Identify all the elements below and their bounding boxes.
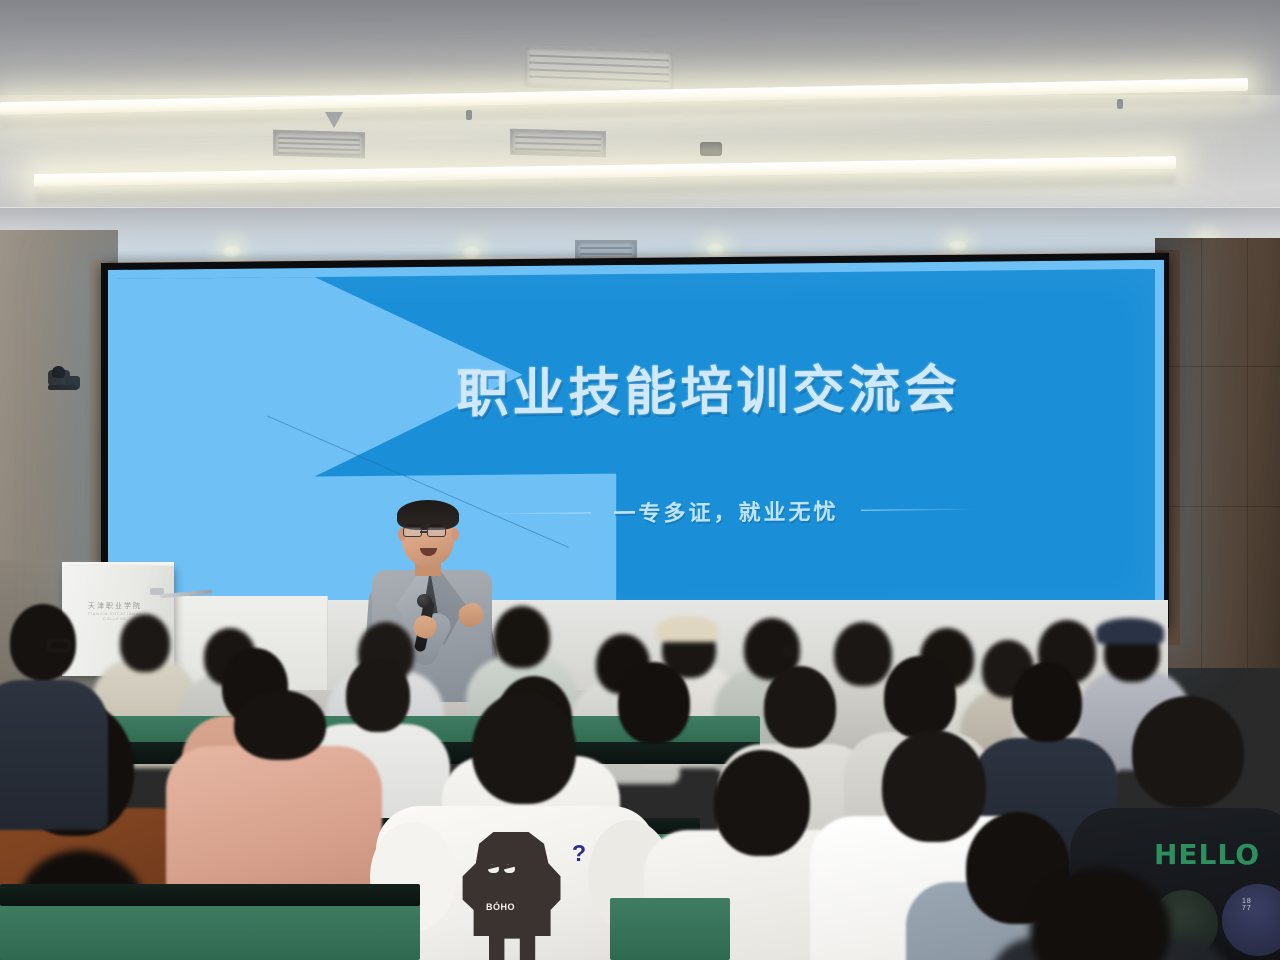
glasses-bridge (420, 531, 427, 533)
glasses-icon-audience (784, 646, 800, 654)
slide-subtitle: 一专多证，就业无忧 (613, 494, 838, 528)
desk-row-1-front (0, 884, 420, 906)
lecture-hall-photo: 职业技能培训交流会 一专多证，就业无忧 天津职业学院 TIANJIN VOCAT… (0, 0, 1280, 960)
downlight-3 (706, 243, 725, 256)
speaker-ear-right (451, 528, 459, 541)
right-wall (1155, 238, 1280, 668)
presentation-screen: 职业技能培训交流会 一专多证，就业无忧 (108, 260, 1164, 632)
ceiling-speaker-box (700, 142, 722, 156)
ceiling-vent-top (524, 45, 674, 92)
ceiling (0, 0, 1280, 268)
downlight-4 (948, 240, 967, 253)
glasses-icon-front-left (48, 640, 70, 651)
subtitle-rule-right (861, 508, 973, 510)
patch-cap-text: 18 77 (1242, 898, 1252, 912)
ceiling-cone-speaker (325, 112, 343, 128)
ptz-camera-icon (48, 366, 82, 396)
sprinkler-head-1 (466, 110, 472, 120)
hello-graphic-text: HELLO (1154, 838, 1260, 871)
boho-eye-right (504, 864, 515, 873)
slide-title: 职业技能培训交流会 (117, 345, 1155, 430)
slide-canvas: 职业技能培训交流会 一专多证，就业无忧 (117, 269, 1155, 623)
ceiling-vent-left (273, 130, 365, 158)
desk-row-1-top (0, 900, 420, 960)
downlight-1 (222, 245, 241, 258)
desk-row-1b-top (610, 898, 730, 960)
ceiling-vent-center (510, 129, 606, 158)
navy-cap (1096, 618, 1164, 644)
beige-cap (656, 616, 718, 642)
microphone-head-icon (417, 594, 432, 608)
glasses-icon-right (427, 527, 446, 537)
boho-eye-left (488, 864, 499, 873)
downlight-2 (462, 246, 481, 259)
podium-logo-text: 天津职业学院 (76, 602, 154, 612)
sprinkler-head-2 (1117, 99, 1123, 109)
boho-brand-text: BÓHO (486, 902, 515, 912)
question-mark-graphic: ? (572, 840, 586, 867)
